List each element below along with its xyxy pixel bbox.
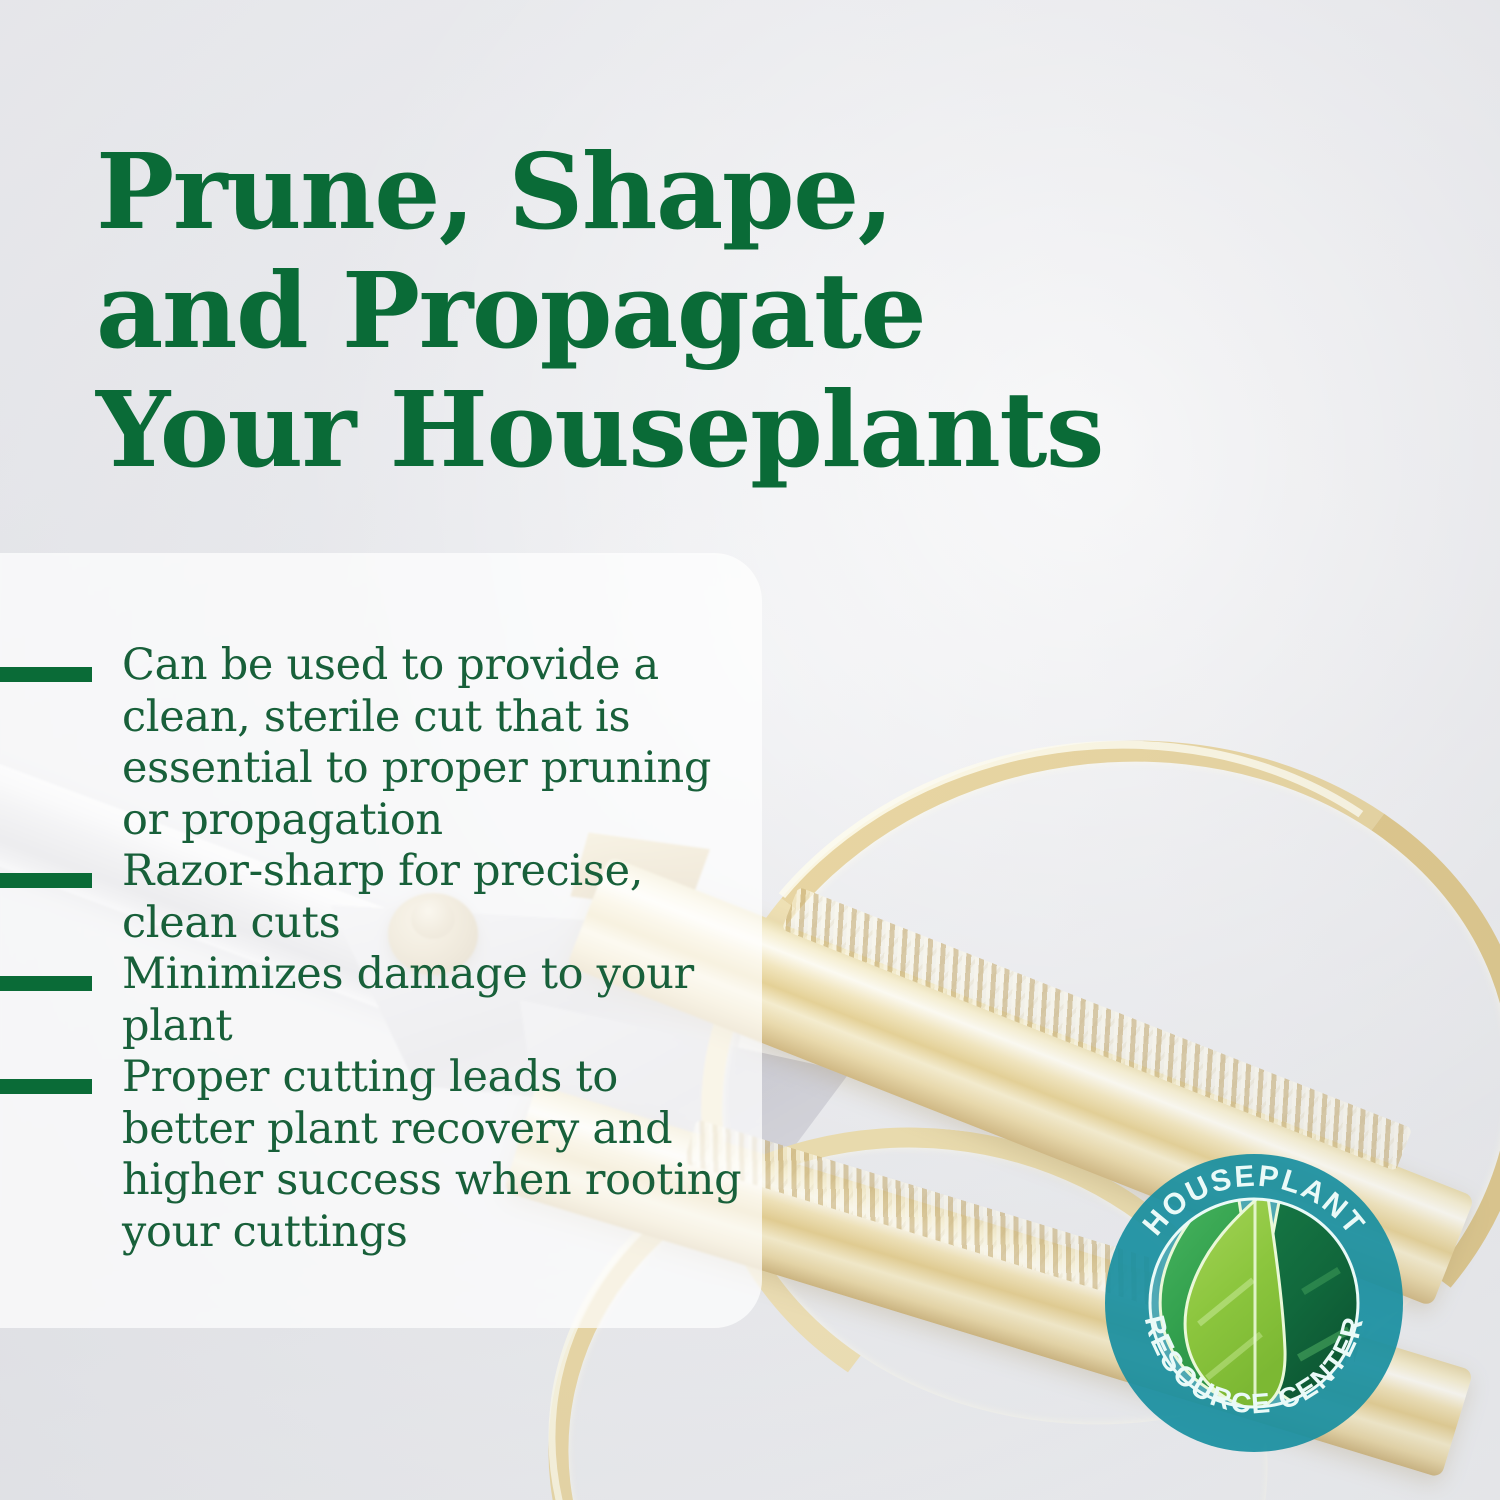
product-infographic: Prune, Shape, and Propagate Your Housepl…: [0, 0, 1500, 1500]
benefit-text: Can be used to provide a clean, sterile …: [122, 640, 760, 846]
brand-logo: HOUSEPLANT RESOURCE CENTER: [1103, 1152, 1405, 1454]
list-item: Razor-sharp for precise, clean cuts: [0, 846, 760, 949]
dash-bullet-icon: [0, 873, 92, 888]
benefit-text: Minimizes damage to your plant: [122, 949, 760, 1052]
dash-bullet-icon: [0, 667, 92, 682]
benefit-text: Proper cutting leads to better plant rec…: [122, 1052, 760, 1258]
benefit-text: Razor-sharp for precise, clean cuts: [122, 846, 760, 949]
dash-bullet-icon: [0, 976, 92, 991]
list-item: Can be used to provide a clean, sterile …: [0, 640, 760, 846]
page-title: Prune, Shape, and Propagate Your Housepl…: [96, 132, 1276, 489]
list-item: Proper cutting leads to better plant rec…: [0, 1052, 760, 1258]
list-item: Minimizes damage to your plant: [0, 949, 760, 1052]
dash-bullet-icon: [0, 1079, 92, 1094]
benefits-list: Can be used to provide a clean, sterile …: [0, 640, 760, 1258]
